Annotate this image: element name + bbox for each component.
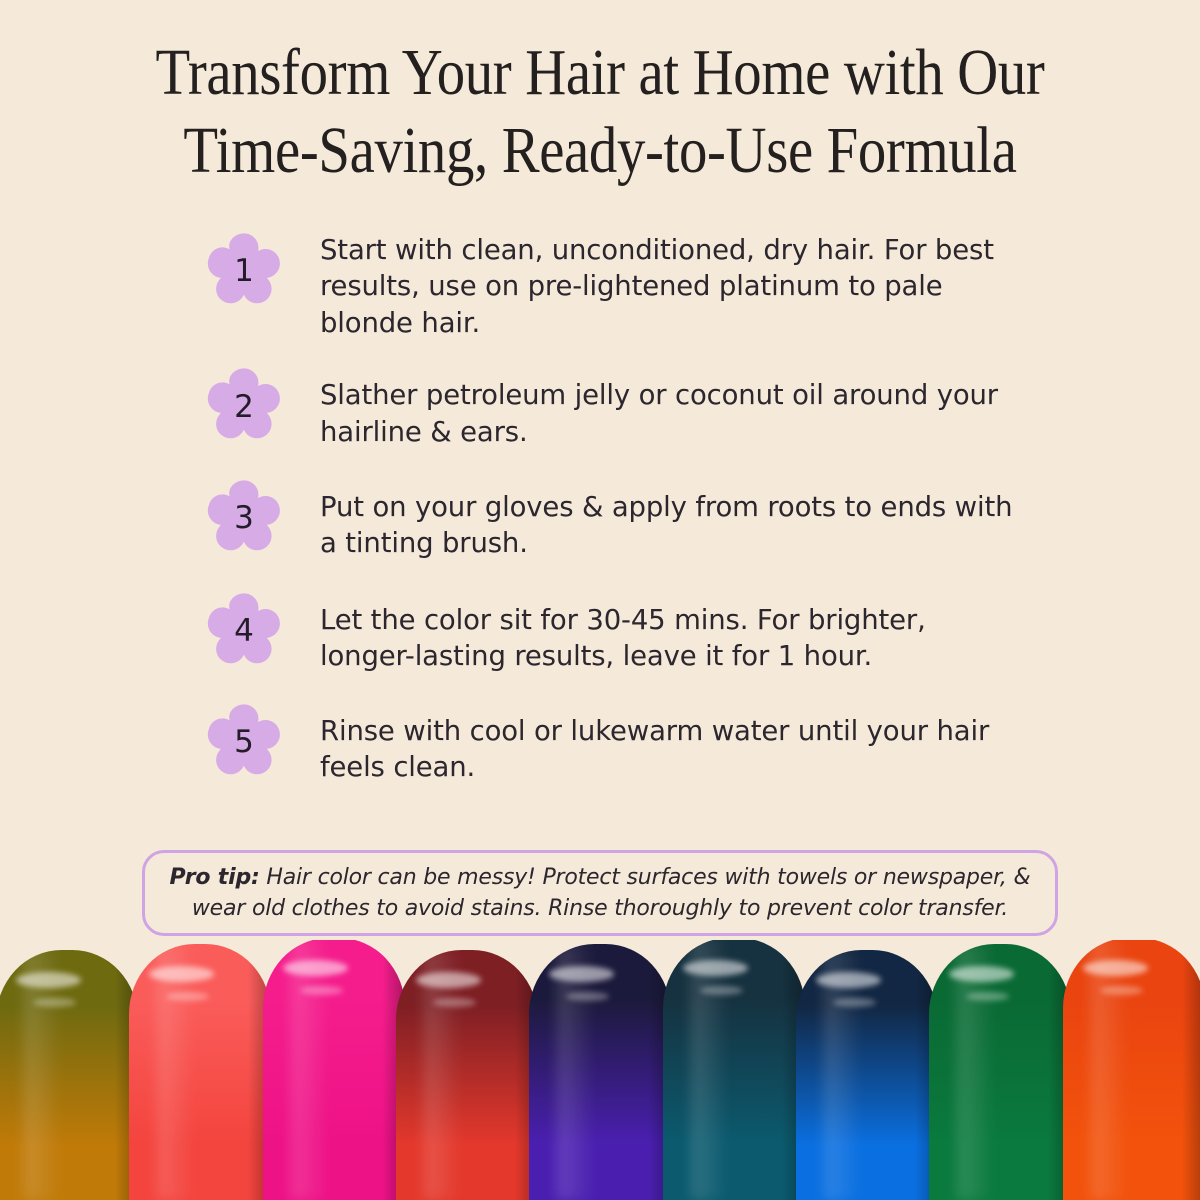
list-item: 3 Put on your gloves & apply from roots … xyxy=(202,477,1140,562)
swatch-highlight xyxy=(291,940,325,1200)
color-swatch xyxy=(0,950,138,1200)
color-swatch xyxy=(663,940,805,1200)
step-number-badge: 3 xyxy=(202,477,286,561)
step-number: 2 xyxy=(202,365,286,449)
color-swatch xyxy=(396,950,538,1200)
swatch-highlight xyxy=(691,940,725,1200)
pro-tip-label: Pro tip: xyxy=(170,865,260,890)
color-swatch xyxy=(929,944,1071,1200)
swatch-gloss-secondary xyxy=(833,998,876,1007)
swatch-gloss-secondary xyxy=(33,998,76,1007)
swatch-gloss xyxy=(1083,960,1148,976)
list-item: 1 Start with clean, unconditioned, dry h… xyxy=(202,230,1140,342)
swatch-gloss-secondary xyxy=(433,998,476,1007)
color-swatch xyxy=(129,944,271,1200)
page-title-line-1: Transform Your Hair at Home with Our xyxy=(84,34,1116,112)
swatch-highlight xyxy=(157,944,191,1200)
swatch-highlight xyxy=(957,944,991,1200)
step-number-badge: 5 xyxy=(202,701,286,785)
swatch-gloss xyxy=(283,960,348,976)
step-number-badge: 1 xyxy=(202,230,286,314)
color-swatch-strip xyxy=(0,940,1200,1200)
swatch-gloss-secondary xyxy=(966,992,1009,1001)
step-text: Start with clean, unconditioned, dry hai… xyxy=(320,230,1020,342)
color-swatch xyxy=(796,950,938,1200)
color-swatch xyxy=(1063,940,1200,1200)
swatch-gloss-secondary xyxy=(566,992,609,1001)
step-number: 3 xyxy=(202,477,286,561)
swatch-highlight xyxy=(1091,940,1125,1200)
step-text: Slather petroleum jelly or coconut oil a… xyxy=(320,365,1020,450)
step-text: Put on your gloves & apply from roots to… xyxy=(320,477,1020,562)
step-text: Let the color sit for 30-45 mins. For br… xyxy=(320,590,1020,675)
swatch-highlight xyxy=(557,944,591,1200)
page-title: Transform Your Hair at Home with Our Tim… xyxy=(0,0,1200,190)
swatch-gloss xyxy=(549,966,614,982)
swatch-gloss xyxy=(149,966,214,982)
color-swatch xyxy=(529,944,671,1200)
swatch-gloss xyxy=(416,972,481,988)
list-item: 4 Let the color sit for 30-45 mins. For … xyxy=(202,590,1140,675)
swatch-gloss-secondary xyxy=(700,986,743,995)
steps-list: 1 Start with clean, unconditioned, dry h… xyxy=(0,230,1200,786)
swatch-gloss-secondary xyxy=(166,992,209,1001)
color-swatch xyxy=(263,940,405,1200)
page-title-line-2: Time-Saving, Ready-to-Use Formula xyxy=(84,112,1116,190)
pro-tip-body: Hair color can be messy! Protect surface… xyxy=(192,865,1031,921)
step-text: Rinse with cool or lukewarm water until … xyxy=(320,701,1020,786)
pro-tip-text: Pro tip: Hair color can be messy! Protec… xyxy=(169,862,1031,924)
pro-tip-box: Pro tip: Hair color can be messy! Protec… xyxy=(142,850,1058,936)
swatch-gloss-secondary xyxy=(1100,986,1143,995)
step-number: 1 xyxy=(202,230,286,314)
list-item: 2 Slather petroleum jelly or coconut oil… xyxy=(202,365,1140,450)
list-item: 5 Rinse with cool or lukewarm water unti… xyxy=(202,701,1140,786)
swatch-gloss xyxy=(16,972,81,988)
step-number-badge: 2 xyxy=(202,365,286,449)
swatch-gloss xyxy=(949,966,1014,982)
step-number: 5 xyxy=(202,701,286,785)
swatch-gloss xyxy=(683,960,748,976)
step-number: 4 xyxy=(202,590,286,674)
swatch-shadow xyxy=(1182,940,1200,1200)
swatch-gloss-secondary xyxy=(300,986,343,995)
swatch-gloss xyxy=(816,972,881,988)
step-number-badge: 4 xyxy=(202,590,286,674)
